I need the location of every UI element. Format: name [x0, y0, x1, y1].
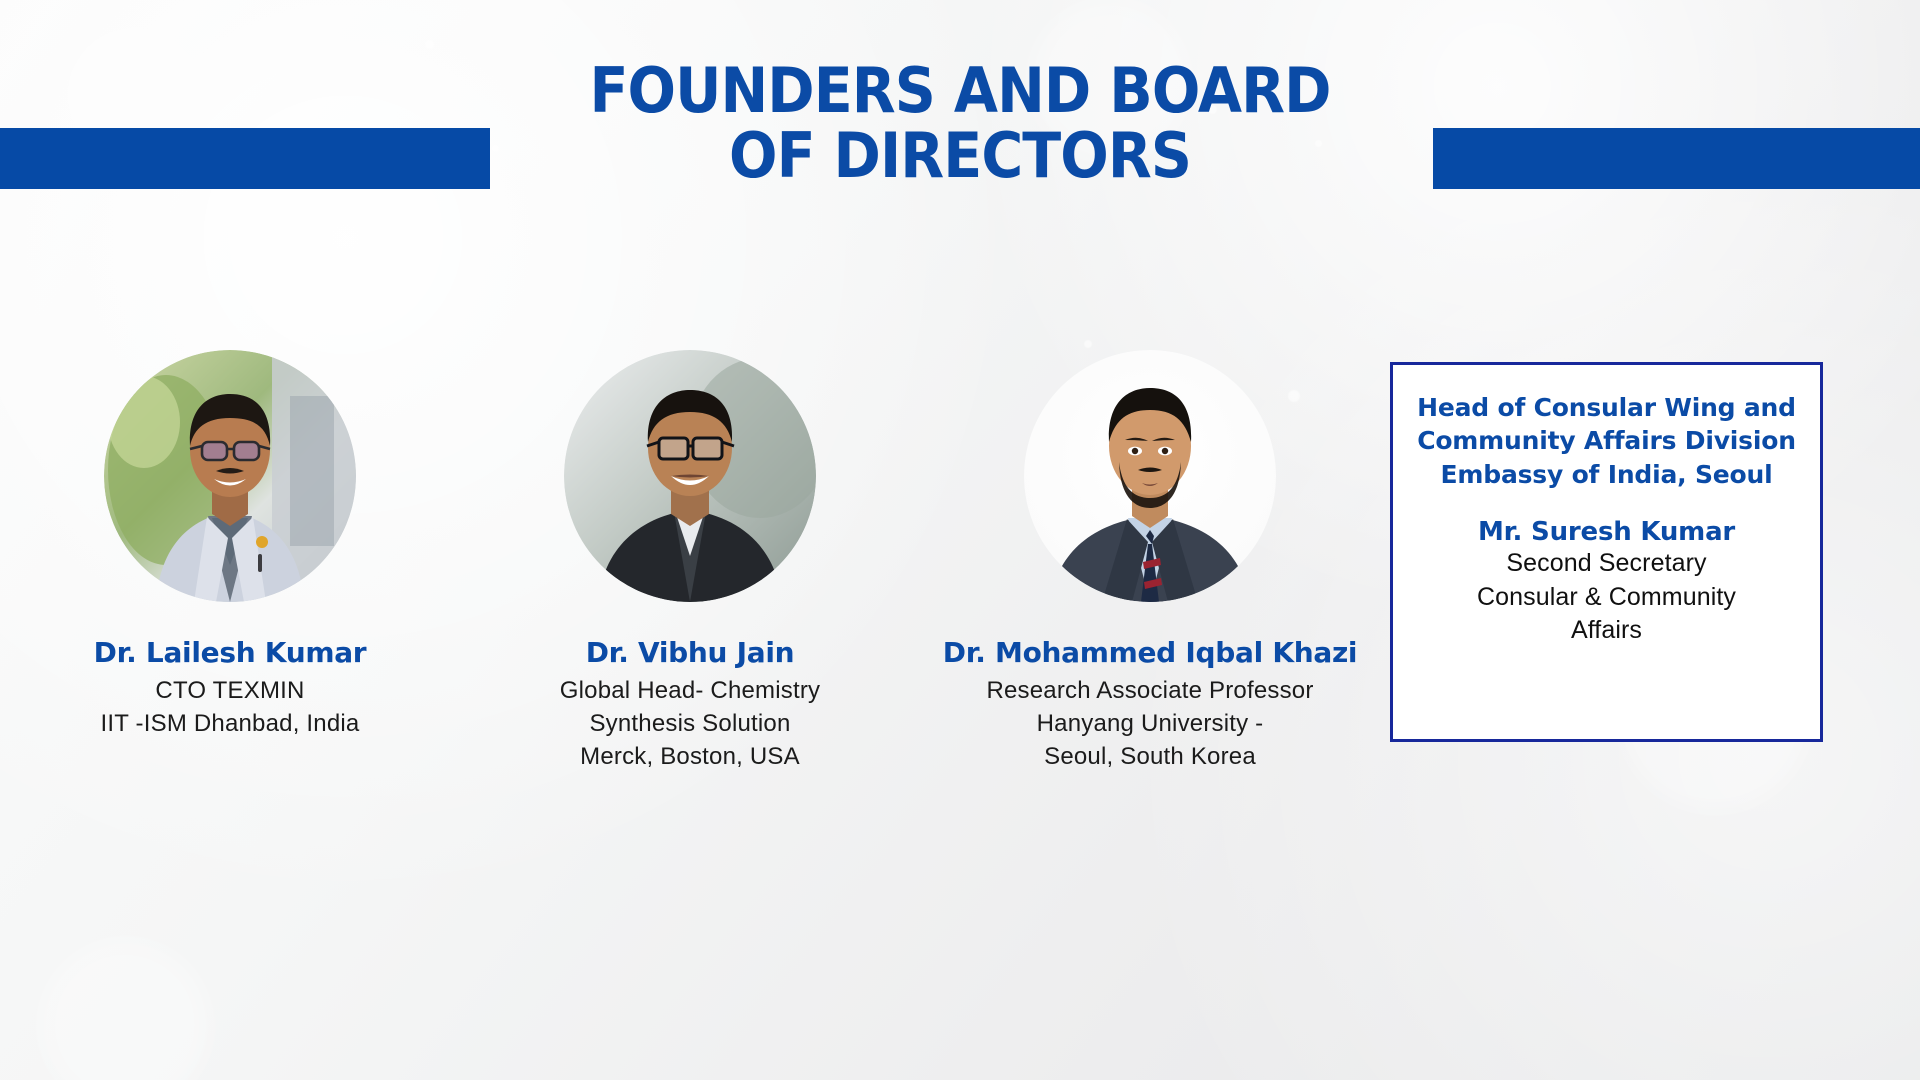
callout-heading: Head of Consular Wing and Community Affa… — [1409, 391, 1804, 491]
people-row: Dr. Lailesh Kumar CTO TEXMIN IIT -ISM Dh… — [0, 350, 1380, 774]
person-name: Dr. Lailesh Kumar — [94, 636, 367, 669]
person-card: Dr. Lailesh Kumar CTO TEXMIN IIT -ISM Dh… — [0, 350, 460, 774]
person-detail-line: Global Head- Chemistry — [560, 675, 821, 708]
person-detail: Global Head- Chemistry Synthesis Solutio… — [560, 675, 821, 774]
callout-spacer — [1409, 491, 1804, 517]
person-detail-line: CTO TEXMIN — [101, 675, 360, 708]
person-name: Dr. Vibhu Jain — [586, 636, 795, 669]
callout-role-line: Second Secretary — [1409, 547, 1804, 581]
person-detail-line: Merck, Boston, USA — [560, 741, 821, 774]
avatar — [564, 350, 816, 602]
person-detail-line: Hanyang University - — [986, 708, 1313, 741]
bokeh-decoration — [1084, 340, 1092, 348]
callout-role-line: Affairs — [1409, 614, 1804, 648]
person-detail: Research Associate Professor Hanyang Uni… — [986, 675, 1313, 774]
callout-role-line: Consular & Community — [1409, 581, 1804, 615]
person-detail-line: Synthesis Solution — [560, 708, 821, 741]
callout-heading-line: Community Affairs Division — [1409, 424, 1804, 457]
callout-person-name: Mr. Suresh Kumar — [1409, 517, 1804, 547]
bokeh-decoration — [40, 940, 210, 1080]
person-name: Dr. Mohammed Iqbal Khazi — [943, 636, 1357, 669]
person-card: Dr. Mohammed Iqbal Khazi Research Associ… — [920, 350, 1380, 774]
avatar — [1024, 350, 1276, 602]
page-title-line-2: OF DIRECTORS — [77, 123, 1843, 188]
callout-heading-line: Embassy of India, Seoul — [1409, 458, 1804, 491]
callout-person-role: Second Secretary Consular & Community Af… — [1409, 547, 1804, 648]
person-card: Dr. Vibhu Jain Global Head- Chemistry Sy… — [460, 350, 920, 774]
person-detail-line: IIT -ISM Dhanbad, India — [101, 708, 360, 741]
person-detail-line: Research Associate Professor — [986, 675, 1313, 708]
callout-box: Head of Consular Wing and Community Affa… — [1390, 362, 1823, 742]
slide-canvas: FOUNDERS AND BOARD OF DIRECTORS — [0, 0, 1920, 1080]
page-title: FOUNDERS AND BOARD OF DIRECTORS — [77, 58, 1843, 188]
avatar — [104, 350, 356, 602]
callout-heading-line: Head of Consular Wing and — [1409, 391, 1804, 424]
page-title-line-1: FOUNDERS AND BOARD — [77, 58, 1843, 123]
bokeh-decoration — [425, 40, 434, 49]
person-detail: CTO TEXMIN IIT -ISM Dhanbad, India — [101, 675, 360, 741]
person-detail-line: Seoul, South Korea — [986, 741, 1313, 774]
